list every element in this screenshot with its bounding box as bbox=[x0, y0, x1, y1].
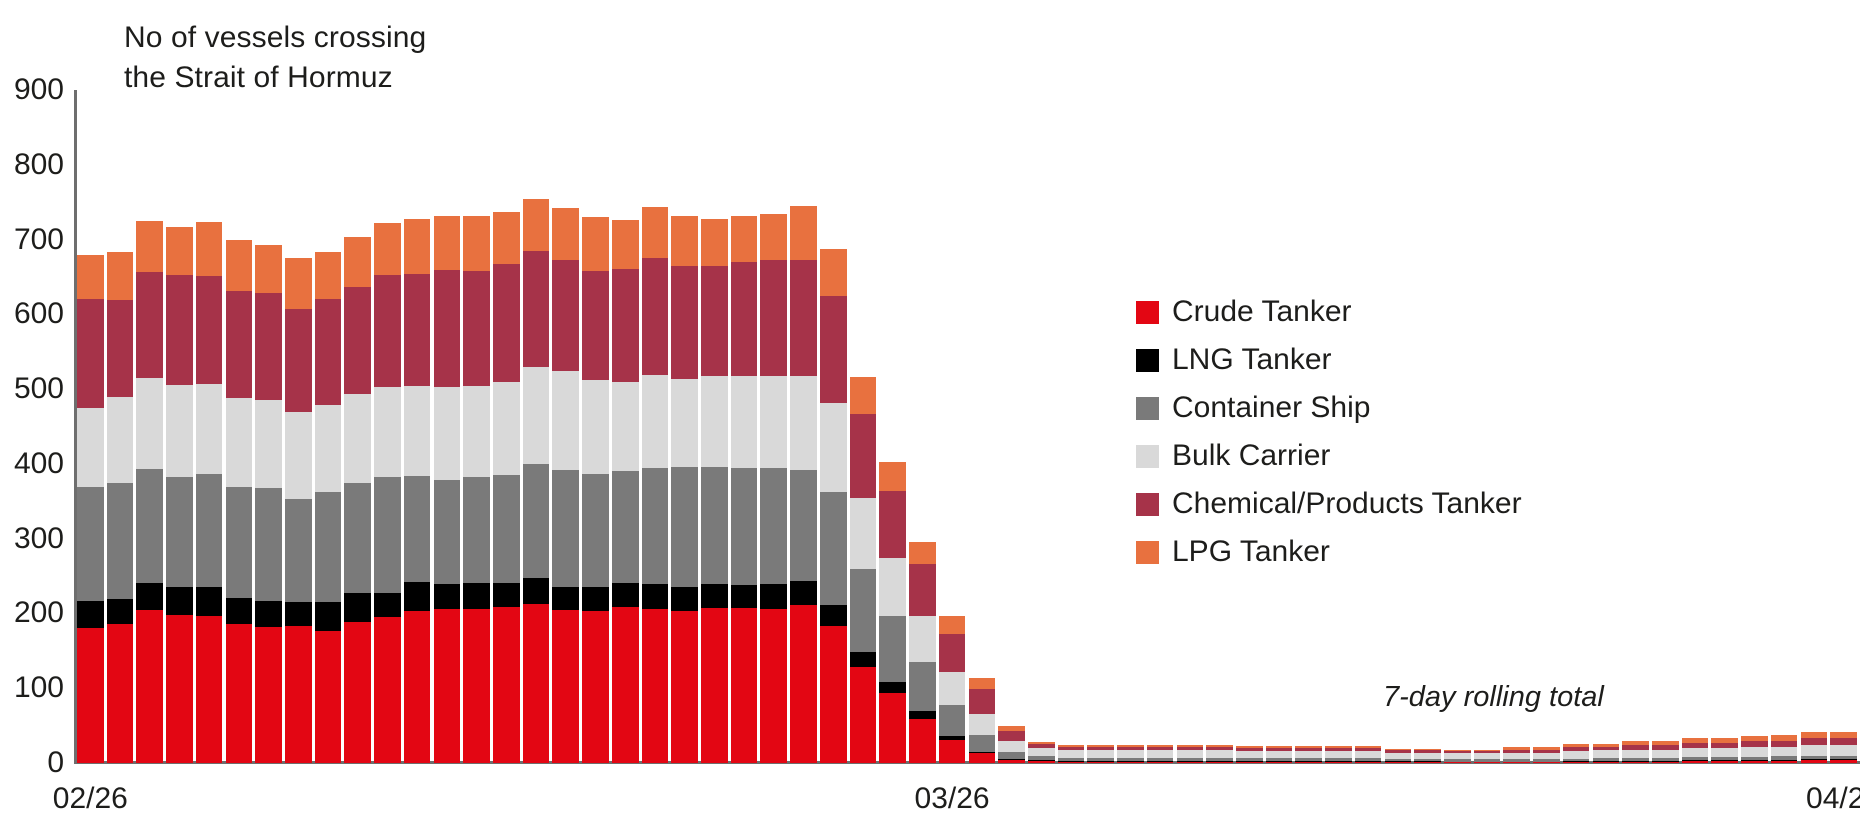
bar-segment-container-ship bbox=[434, 480, 461, 585]
bar-segment-crude-tanker bbox=[1087, 762, 1114, 763]
bar-segment-bulk-carrier bbox=[374, 387, 401, 477]
bar-segment-lng-tanker bbox=[166, 587, 193, 615]
bar-segment-chemical-products-tanker bbox=[166, 275, 193, 384]
bar-04/25[interactable] bbox=[1801, 732, 1828, 763]
bar-segment-lpg-tanker bbox=[77, 255, 104, 299]
bar-segment-bulk-carrier bbox=[879, 558, 906, 616]
bar-03/23[interactable] bbox=[820, 249, 847, 763]
bar-segment-chemical-products-tanker bbox=[1830, 738, 1857, 745]
bar-segment-lpg-tanker bbox=[136, 221, 163, 272]
bar-segment-container-ship bbox=[790, 470, 817, 581]
bar-segment-chemical-products-tanker bbox=[434, 270, 461, 387]
y-tick-800: 800 bbox=[0, 148, 64, 182]
bar-segment-lng-tanker bbox=[760, 584, 787, 609]
bar-segment-bulk-carrier bbox=[760, 376, 787, 468]
bar-segment-chemical-products-tanker bbox=[969, 689, 996, 714]
bar-04/26[interactable] bbox=[1830, 732, 1857, 763]
plot-area bbox=[77, 90, 1860, 763]
bar-segment-lpg-tanker bbox=[166, 227, 193, 276]
bar-segment-lpg-tanker bbox=[463, 216, 490, 271]
bar-segment-container-ship bbox=[939, 705, 966, 736]
legend-label: Crude Tanker bbox=[1172, 295, 1352, 329]
bar-04/11[interactable] bbox=[1385, 749, 1412, 763]
bar-segment-container-ship bbox=[552, 470, 579, 587]
bar-segment-lpg-tanker bbox=[790, 206, 817, 260]
bar-segment-bulk-carrier bbox=[523, 367, 550, 463]
bar-segment-bulk-carrier bbox=[166, 385, 193, 478]
bar-segment-crude-tanker bbox=[552, 610, 579, 763]
bar-segment-bulk-carrier bbox=[1593, 750, 1620, 757]
bar-segment-lpg-tanker bbox=[404, 219, 431, 274]
bar-segment-bulk-carrier bbox=[1325, 751, 1352, 758]
bar-segment-lng-tanker bbox=[226, 598, 253, 624]
legend-swatch-icon bbox=[1136, 493, 1159, 516]
y-tick-200: 200 bbox=[0, 596, 64, 630]
bar-segment-lng-tanker bbox=[255, 601, 282, 627]
bar-04/24[interactable] bbox=[1771, 735, 1798, 763]
y-tick-700: 700 bbox=[0, 223, 64, 257]
bar-segment-bulk-carrier bbox=[1741, 747, 1768, 757]
legend-label: LPG Tanker bbox=[1172, 535, 1330, 569]
bar-segment-lpg-tanker bbox=[939, 616, 966, 633]
bar-segment-crude-tanker bbox=[1444, 762, 1471, 763]
bar-segment-container-ship bbox=[77, 487, 104, 601]
bar-segment-crude-tanker bbox=[493, 607, 520, 763]
bar-segment-chemical-products-tanker bbox=[850, 414, 877, 498]
bar-segment-chemical-products-tanker bbox=[77, 299, 104, 408]
bar-02/28[interactable] bbox=[136, 221, 163, 763]
legend-item-bulk-carrier[interactable]: Bulk Carrier bbox=[1136, 432, 1522, 480]
bar-segment-container-ship bbox=[226, 487, 253, 598]
bar-03/15[interactable] bbox=[582, 217, 609, 763]
bar-segment-container-ship bbox=[998, 752, 1025, 759]
bar-04/12[interactable] bbox=[1414, 749, 1441, 763]
bar-segment-crude-tanker bbox=[77, 628, 104, 763]
bar-segment-bulk-carrier bbox=[1830, 745, 1857, 755]
legend-item-crude-tanker[interactable]: Crude Tanker bbox=[1136, 288, 1522, 336]
bar-segment-crude-tanker bbox=[1801, 760, 1828, 763]
bar-segment-chemical-products-tanker bbox=[582, 271, 609, 380]
bar-segment-bulk-carrier bbox=[701, 376, 728, 467]
chart-legend: Crude TankerLNG TankerContainer ShipBulk… bbox=[1136, 288, 1522, 576]
bar-segment-chemical-products-tanker bbox=[493, 264, 520, 381]
bar-segment-lpg-tanker bbox=[493, 212, 520, 264]
bar-segment-lpg-tanker bbox=[255, 245, 282, 294]
bar-segment-lng-tanker bbox=[820, 605, 847, 627]
bar-segment-container-ship bbox=[374, 477, 401, 592]
bar-segment-bulk-carrier bbox=[493, 382, 520, 475]
bar-segment-crude-tanker bbox=[1058, 762, 1085, 763]
bar-03/19[interactable] bbox=[701, 219, 728, 763]
bar-segment-lng-tanker bbox=[582, 587, 609, 612]
bar-segment-chemical-products-tanker bbox=[998, 731, 1025, 741]
bar-03/01[interactable] bbox=[166, 227, 193, 763]
bar-03/14[interactable] bbox=[552, 208, 579, 763]
bar-04/02[interactable] bbox=[1117, 745, 1144, 763]
legend-label: LNG Tanker bbox=[1172, 343, 1332, 377]
bar-segment-crude-tanker bbox=[731, 608, 758, 763]
bar-segment-lng-tanker bbox=[731, 585, 758, 608]
bar-02/27[interactable] bbox=[107, 252, 134, 763]
bar-segment-bulk-carrier bbox=[731, 376, 758, 469]
bar-segment-crude-tanker bbox=[463, 609, 490, 763]
chart-figure: No of vessels crossing the Strait of Hor… bbox=[0, 0, 1860, 839]
bar-segment-container-ship bbox=[285, 499, 312, 601]
bar-04/22[interactable] bbox=[1711, 738, 1738, 763]
bar-segment-lng-tanker bbox=[404, 582, 431, 611]
x-tick-03/26: 03/26 bbox=[915, 782, 990, 816]
x-tick-04/26: 04/26 bbox=[1806, 782, 1860, 816]
bar-segment-crude-tanker bbox=[1206, 762, 1233, 763]
bar-segment-crude-tanker bbox=[285, 626, 312, 763]
bar-segment-lpg-tanker bbox=[879, 462, 906, 490]
bar-segment-lng-tanker bbox=[701, 584, 728, 608]
bar-03/10[interactable] bbox=[434, 216, 461, 763]
bar-segment-lpg-tanker bbox=[552, 208, 579, 260]
bar-segment-crude-tanker bbox=[1533, 762, 1560, 763]
bar-segment-container-ship bbox=[196, 474, 223, 587]
bar-03/20[interactable] bbox=[731, 216, 758, 763]
bar-segment-lng-tanker bbox=[612, 583, 639, 608]
bar-segment-chemical-products-tanker bbox=[909, 564, 936, 616]
bar-segment-lpg-tanker bbox=[226, 240, 253, 291]
bar-segment-container-ship bbox=[612, 471, 639, 582]
legend-swatch-icon bbox=[1136, 397, 1159, 420]
bar-segment-crude-tanker bbox=[1830, 760, 1857, 763]
legend-item-chemical-products-tanker[interactable]: Chemical/Products Tanker bbox=[1136, 480, 1522, 528]
y-axis-tick-labels: 9008007006005004003002001000 bbox=[0, 0, 64, 839]
bar-segment-crude-tanker bbox=[315, 631, 342, 763]
bar-segment-bulk-carrier bbox=[1028, 748, 1055, 756]
bar-segment-crude-tanker bbox=[523, 604, 550, 763]
bar-03/16[interactable] bbox=[612, 220, 639, 763]
bar-03/05[interactable] bbox=[285, 258, 312, 763]
bar-04/18[interactable] bbox=[1593, 744, 1620, 763]
bar-segment-container-ship bbox=[523, 464, 550, 578]
bar-segment-crude-tanker bbox=[879, 693, 906, 763]
bar-segment-crude-tanker bbox=[1474, 762, 1501, 763]
y-tick-500: 500 bbox=[0, 372, 64, 406]
bar-segment-lpg-tanker bbox=[701, 219, 728, 266]
bar-segment-chemical-products-tanker bbox=[226, 291, 253, 398]
bar-segment-crude-tanker bbox=[404, 611, 431, 763]
bar-segment-chemical-products-tanker bbox=[642, 258, 669, 375]
bar-03/17[interactable] bbox=[642, 207, 669, 763]
bar-segment-lng-tanker bbox=[107, 599, 134, 624]
bar-segment-lng-tanker bbox=[374, 593, 401, 618]
bar-segment-lng-tanker bbox=[493, 583, 520, 608]
bar-segment-lpg-tanker bbox=[909, 542, 936, 564]
bar-segment-container-ship bbox=[107, 483, 134, 599]
bar-segment-crude-tanker bbox=[790, 605, 817, 763]
y-tick-100: 100 bbox=[0, 671, 64, 705]
bar-03/08[interactable] bbox=[374, 223, 401, 763]
bar-segment-chemical-products-tanker bbox=[760, 260, 787, 376]
bar-04/09[interactable] bbox=[1325, 746, 1352, 763]
bar-segment-bulk-carrier bbox=[1236, 751, 1263, 758]
bar-03/26[interactable] bbox=[909, 542, 936, 763]
bar-segment-lng-tanker bbox=[344, 593, 371, 622]
bar-segment-lng-tanker bbox=[790, 581, 817, 606]
bar-03/30[interactable] bbox=[1028, 742, 1055, 763]
bar-segment-lng-tanker bbox=[523, 578, 550, 605]
bar-segment-crude-tanker bbox=[1295, 762, 1322, 763]
bar-segment-chemical-products-tanker bbox=[1801, 738, 1828, 745]
bar-03/11[interactable] bbox=[463, 216, 490, 763]
bar-segment-bulk-carrier bbox=[1087, 750, 1114, 757]
bar-segment-bulk-carrier bbox=[136, 378, 163, 469]
bar-04/19[interactable] bbox=[1622, 741, 1649, 763]
bar-segment-container-ship bbox=[969, 735, 996, 752]
bar-segment-chemical-products-tanker bbox=[552, 260, 579, 371]
bar-04/13[interactable] bbox=[1444, 750, 1471, 763]
bar-segment-crude-tanker bbox=[760, 609, 787, 763]
bar-04/06[interactable] bbox=[1236, 746, 1263, 763]
bar-segment-crude-tanker bbox=[1622, 762, 1649, 763]
bar-segment-crude-tanker bbox=[1385, 762, 1412, 763]
bar-segment-lng-tanker bbox=[434, 584, 461, 609]
bar-segment-lng-tanker bbox=[879, 682, 906, 692]
bar-segment-bulk-carrier bbox=[107, 397, 134, 483]
bar-04/04[interactable] bbox=[1177, 745, 1204, 763]
bar-segment-chemical-products-tanker bbox=[463, 271, 490, 386]
bar-segment-chemical-products-tanker bbox=[344, 287, 371, 395]
bar-segment-chemical-products-tanker bbox=[196, 276, 223, 384]
bar-04/23[interactable] bbox=[1741, 736, 1768, 763]
bar-segment-lpg-tanker bbox=[612, 220, 639, 269]
bar-segment-chemical-products-tanker bbox=[285, 309, 312, 411]
bar-segment-chemical-products-tanker bbox=[136, 272, 163, 378]
bar-segment-crude-tanker bbox=[344, 622, 371, 763]
bar-segment-lpg-tanker bbox=[285, 258, 312, 310]
bar-segment-chemical-products-tanker bbox=[107, 300, 134, 397]
bar-segment-crude-tanker bbox=[1503, 762, 1530, 763]
bar-segment-lpg-tanker bbox=[374, 223, 401, 275]
legend-swatch-icon bbox=[1136, 301, 1159, 324]
bar-segment-chemical-products-tanker bbox=[879, 491, 906, 558]
bar-segment-bulk-carrier bbox=[582, 380, 609, 474]
bar-segment-crude-tanker bbox=[671, 611, 698, 763]
bar-segment-crude-tanker bbox=[1741, 761, 1768, 763]
bar-04/16[interactable] bbox=[1533, 747, 1560, 763]
bar-segment-crude-tanker bbox=[136, 610, 163, 763]
bar-segment-crude-tanker bbox=[255, 627, 282, 763]
legend-item-lpg-tanker[interactable]: LPG Tanker bbox=[1136, 528, 1522, 576]
x-tick-02/26: 02/26 bbox=[53, 782, 128, 816]
bar-segment-lng-tanker bbox=[315, 602, 342, 630]
bar-04/14[interactable] bbox=[1474, 750, 1501, 763]
bar-segment-bulk-carrier bbox=[1563, 751, 1590, 758]
bar-segment-crude-tanker bbox=[642, 609, 669, 763]
bar-segment-lpg-tanker bbox=[642, 207, 669, 258]
bar-segment-crude-tanker bbox=[226, 624, 253, 763]
bar-segment-bulk-carrier bbox=[1147, 750, 1174, 757]
bar-segment-lpg-tanker bbox=[344, 237, 371, 287]
bar-segment-container-ship bbox=[404, 476, 431, 582]
bar-segment-lng-tanker bbox=[136, 583, 163, 610]
bar-04/10[interactable] bbox=[1355, 746, 1382, 763]
bar-04/15[interactable] bbox=[1503, 747, 1530, 763]
bar-segment-container-ship bbox=[255, 488, 282, 601]
legend-item-container-ship[interactable]: Container Ship bbox=[1136, 384, 1522, 432]
bar-segment-bulk-carrier bbox=[671, 379, 698, 467]
bar-segment-bulk-carrier bbox=[1177, 750, 1204, 757]
bar-segment-bulk-carrier bbox=[969, 714, 996, 735]
legend-label: Bulk Carrier bbox=[1172, 439, 1330, 473]
bar-segment-bulk-carrier bbox=[315, 405, 342, 492]
bar-03/24[interactable] bbox=[850, 377, 877, 763]
bar-segment-bulk-carrier bbox=[1058, 750, 1085, 757]
bar-segment-bulk-carrier bbox=[820, 403, 847, 492]
bar-segment-chemical-products-tanker bbox=[612, 269, 639, 382]
bar-segment-bulk-carrier bbox=[196, 384, 223, 474]
bar-segment-lpg-tanker bbox=[315, 252, 342, 298]
bar-segment-crude-tanker bbox=[1117, 762, 1144, 763]
bar-04/07[interactable] bbox=[1266, 746, 1293, 763]
bar-segment-lng-tanker bbox=[196, 587, 223, 616]
bar-segment-container-ship bbox=[344, 483, 371, 592]
bar-segment-container-ship bbox=[701, 467, 728, 584]
y-tick-400: 400 bbox=[0, 447, 64, 481]
bar-segment-lpg-tanker bbox=[850, 377, 877, 414]
bar-segment-lng-tanker bbox=[909, 711, 936, 718]
bar-segment-bulk-carrier bbox=[612, 382, 639, 472]
bar-segment-container-ship bbox=[136, 469, 163, 583]
bar-segment-bulk-carrier bbox=[434, 387, 461, 480]
bar-04/17[interactable] bbox=[1563, 744, 1590, 763]
bar-segment-container-ship bbox=[879, 616, 906, 683]
bar-segment-bulk-carrier bbox=[255, 400, 282, 487]
bar-03/07[interactable] bbox=[344, 237, 371, 763]
bar-segment-bulk-carrier bbox=[998, 741, 1025, 751]
bar-segment-container-ship bbox=[166, 477, 193, 586]
legend-swatch-icon bbox=[1136, 349, 1159, 372]
legend-label: Chemical/Products Tanker bbox=[1172, 487, 1522, 521]
y-tick-900: 900 bbox=[0, 73, 64, 107]
bar-segment-crude-tanker bbox=[1771, 761, 1798, 763]
bar-segment-container-ship bbox=[463, 477, 490, 582]
bar-segment-lng-tanker bbox=[285, 602, 312, 627]
bar-segment-bulk-carrier bbox=[1801, 745, 1828, 755]
bar-03/04[interactable] bbox=[255, 245, 282, 763]
bar-segment-lpg-tanker bbox=[731, 216, 758, 262]
bar-03/13[interactable] bbox=[523, 199, 550, 763]
bar-03/21[interactable] bbox=[760, 214, 787, 763]
bar-segment-crude-tanker bbox=[969, 753, 996, 763]
bar-segment-container-ship bbox=[493, 475, 520, 583]
chart-axis-title: No of vessels crossing the Strait of Hor… bbox=[124, 18, 426, 98]
bar-segment-bulk-carrier bbox=[850, 498, 877, 569]
bar-03/22[interactable] bbox=[790, 206, 817, 763]
bar-02/26[interactable] bbox=[77, 255, 104, 763]
bar-segment-crude-tanker bbox=[1325, 762, 1352, 763]
bar-segment-chemical-products-tanker bbox=[404, 274, 431, 386]
bar-segment-bulk-carrier bbox=[1503, 753, 1530, 760]
bar-segment-chemical-products-tanker bbox=[374, 275, 401, 386]
bar-03/25[interactable] bbox=[879, 462, 906, 763]
bar-segment-bulk-carrier bbox=[1652, 750, 1679, 758]
bar-segment-bulk-carrier bbox=[790, 376, 817, 470]
bar-03/31[interactable] bbox=[1058, 745, 1085, 763]
bar-04/05[interactable] bbox=[1206, 745, 1233, 763]
bar-segment-chemical-products-tanker bbox=[523, 251, 550, 368]
bar-segment-container-ship bbox=[909, 662, 936, 711]
bar-03/06[interactable] bbox=[315, 252, 342, 763]
bar-segment-container-ship bbox=[760, 468, 787, 585]
bar-04/03[interactable] bbox=[1147, 745, 1174, 763]
bar-segment-container-ship bbox=[731, 468, 758, 585]
bar-segment-container-ship bbox=[582, 474, 609, 586]
bar-segment-lpg-tanker bbox=[523, 199, 550, 251]
bar-segment-lpg-tanker bbox=[582, 217, 609, 271]
bar-segment-crude-tanker bbox=[1266, 762, 1293, 763]
bar-segment-bulk-carrier bbox=[1266, 751, 1293, 758]
bar-segment-crude-tanker bbox=[582, 611, 609, 763]
bar-segment-crude-tanker bbox=[1593, 762, 1620, 763]
bar-segment-lpg-tanker bbox=[820, 249, 847, 296]
bar-segment-lng-tanker bbox=[77, 601, 104, 628]
bar-segment-container-ship bbox=[642, 468, 669, 584]
bar-segment-crude-tanker bbox=[820, 626, 847, 763]
bar-segment-chemical-products-tanker bbox=[820, 296, 847, 402]
bar-04/20[interactable] bbox=[1652, 741, 1679, 763]
chart-annotation: 7-day rolling total bbox=[1383, 681, 1604, 714]
bar-03/18[interactable] bbox=[671, 216, 698, 763]
bar-segment-chemical-products-tanker bbox=[731, 262, 758, 376]
bar-segment-bulk-carrier bbox=[1295, 751, 1322, 758]
bar-03/09[interactable] bbox=[404, 219, 431, 763]
bar-segment-bulk-carrier bbox=[552, 371, 579, 470]
bar-segment-lpg-tanker bbox=[434, 216, 461, 270]
bar-03/12[interactable] bbox=[493, 212, 520, 763]
bar-segment-crude-tanker bbox=[1028, 761, 1055, 763]
bar-04/01[interactable] bbox=[1087, 745, 1114, 763]
bar-segment-lpg-tanker bbox=[760, 214, 787, 260]
bar-segment-crude-tanker bbox=[1236, 762, 1263, 763]
y-tick-300: 300 bbox=[0, 522, 64, 556]
bar-segment-crude-tanker bbox=[1682, 761, 1709, 763]
bar-segment-lng-tanker bbox=[850, 652, 877, 667]
bar-segment-crude-tanker bbox=[166, 615, 193, 763]
bar-04/08[interactable] bbox=[1295, 746, 1322, 763]
y-tick-600: 600 bbox=[0, 297, 64, 331]
bar-03/27[interactable] bbox=[939, 616, 966, 763]
bar-segment-crude-tanker bbox=[1177, 762, 1204, 763]
bar-04/21[interactable] bbox=[1682, 738, 1709, 763]
legend-item-lng-tanker[interactable]: LNG Tanker bbox=[1136, 336, 1522, 384]
bar-segment-bulk-carrier bbox=[909, 616, 936, 662]
bar-segment-bulk-carrier bbox=[642, 375, 669, 468]
bar-segment-bulk-carrier bbox=[463, 386, 490, 477]
bar-segment-bulk-carrier bbox=[1533, 753, 1560, 760]
bar-03/29[interactable] bbox=[998, 726, 1025, 763]
bar-segment-chemical-products-tanker bbox=[255, 293, 282, 400]
bar-segment-crude-tanker bbox=[1563, 762, 1590, 763]
bar-segment-crude-tanker bbox=[374, 617, 401, 763]
bar-segment-chemical-products-tanker bbox=[315, 299, 342, 405]
bar-03/28[interactable] bbox=[969, 678, 996, 763]
bar-03/03[interactable] bbox=[226, 240, 253, 763]
bar-segment-bulk-carrier bbox=[1355, 751, 1382, 758]
bar-segment-chemical-products-tanker bbox=[939, 634, 966, 672]
bar-segment-crude-tanker bbox=[434, 609, 461, 763]
bar-segment-crude-tanker bbox=[107, 624, 134, 763]
bar-segment-bulk-carrier bbox=[1117, 750, 1144, 757]
bar-segment-lpg-tanker bbox=[969, 678, 996, 689]
bar-segment-crude-tanker bbox=[850, 667, 877, 763]
bar-segment-bulk-carrier bbox=[939, 672, 966, 706]
bar-03/02[interactable] bbox=[196, 222, 223, 763]
